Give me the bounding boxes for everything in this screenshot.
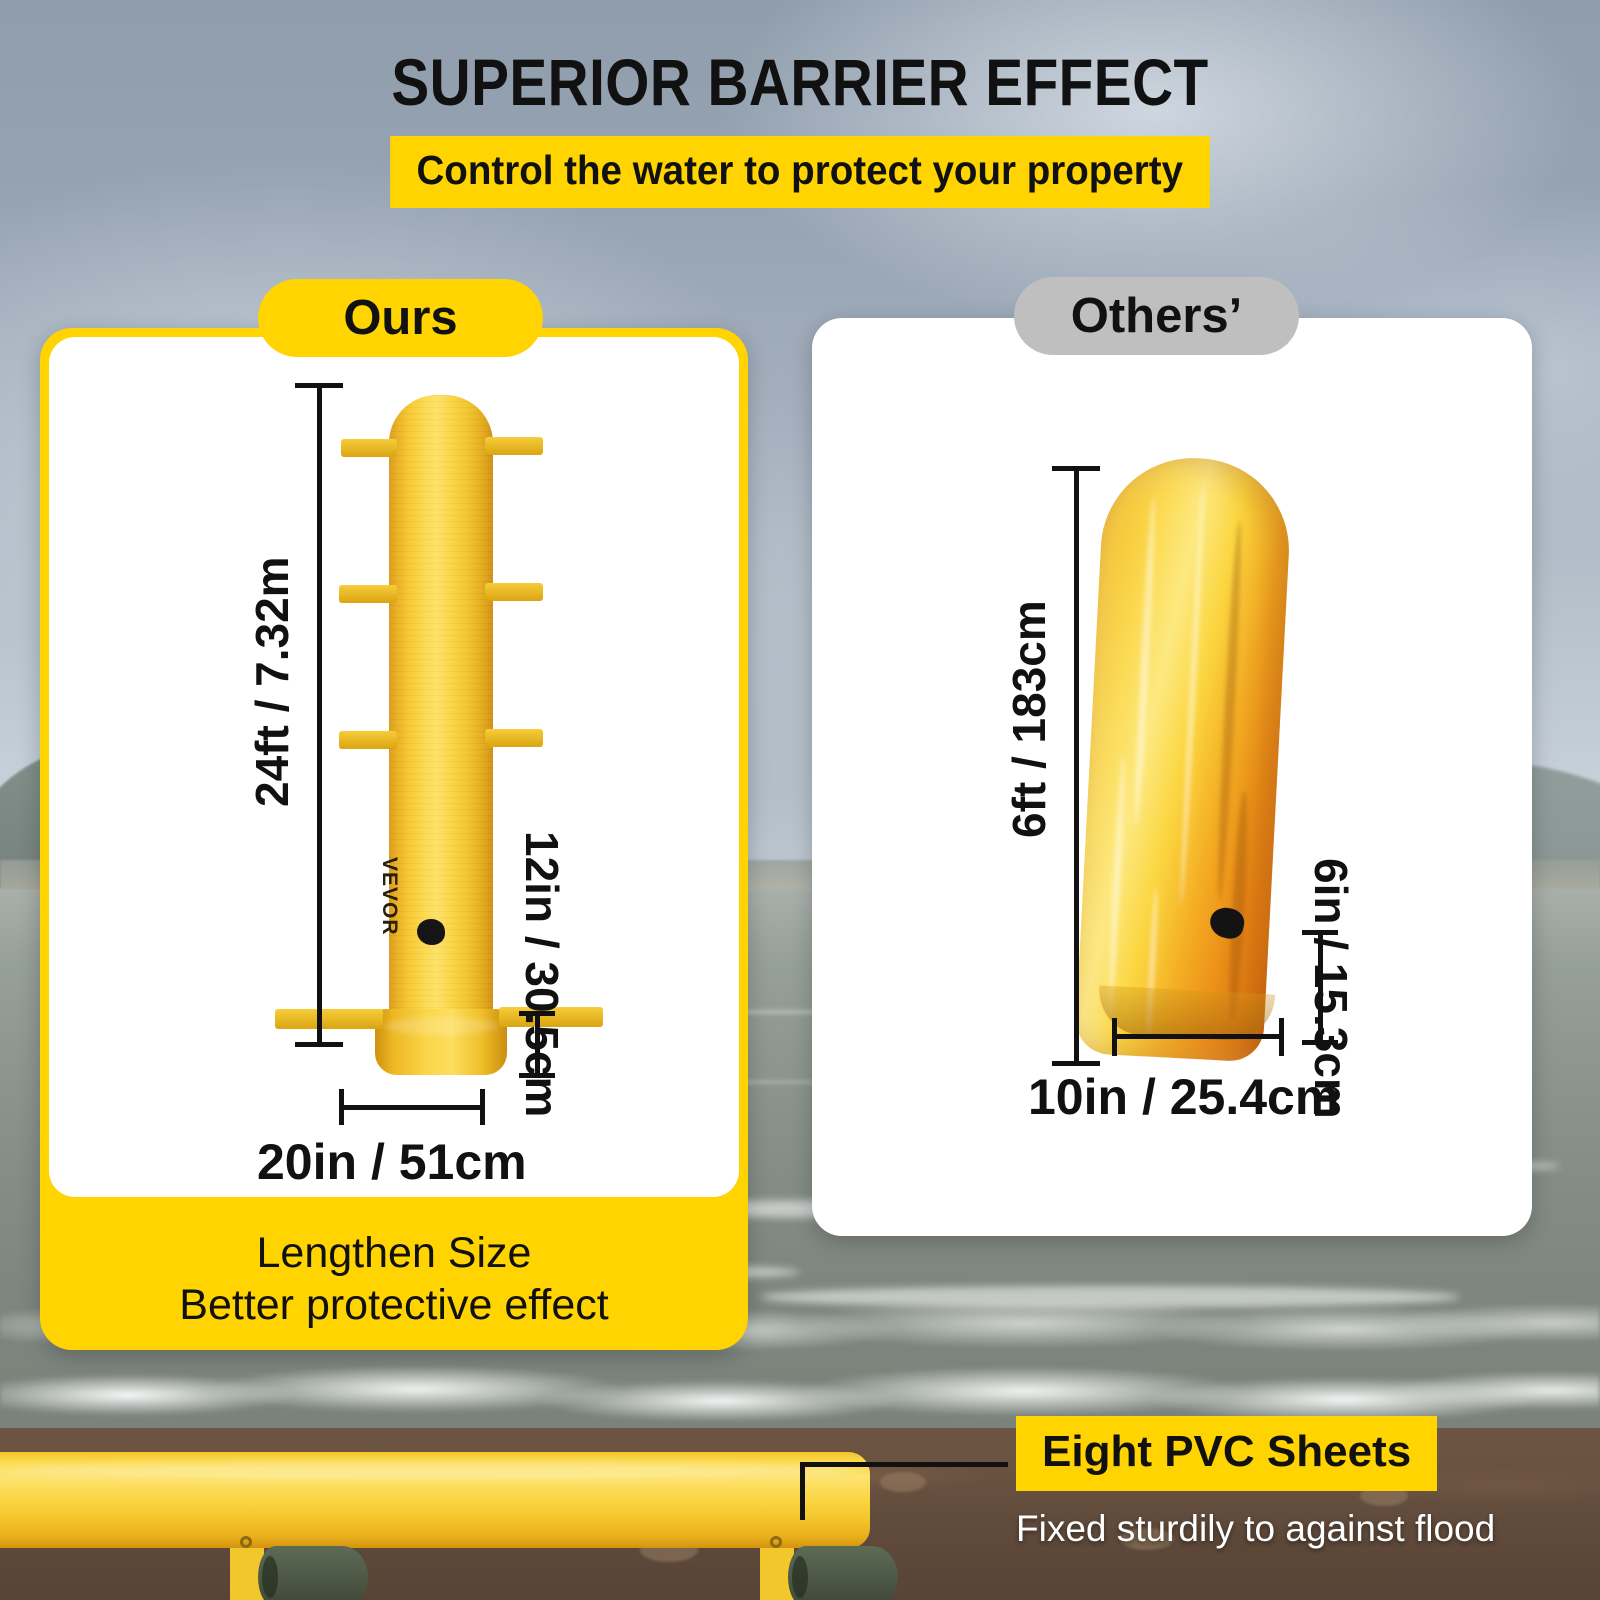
pvc-sheet-tab xyxy=(339,731,397,749)
card-ours-caption: Lengthen Size Better protective effect xyxy=(40,1208,748,1350)
product-base-ours xyxy=(375,1009,507,1075)
pvc-sheet-tab xyxy=(485,729,543,747)
sandbag xyxy=(258,1546,368,1600)
pvc-sheet-tab xyxy=(275,1009,383,1029)
card-ours: VEVOR 24ft / 7.32m 12in / 30.5cm 20in / … xyxy=(40,328,748,1350)
dimension-label-length: 24ft / 7.32m xyxy=(245,556,299,807)
pvc-sheet-tab xyxy=(485,437,543,455)
dimension-label-width: 10in / 25.4cm xyxy=(1028,1068,1339,1126)
dimension-label-height: 12in / 30.5cm xyxy=(515,831,569,1117)
callout-subtext: Fixed sturdily to against flood xyxy=(1016,1508,1495,1550)
dimension-cap-top xyxy=(295,383,343,388)
dimension-label-width: 20in / 51cm xyxy=(257,1133,527,1191)
vevor-brand-logo: VEVOR xyxy=(377,857,401,936)
dimension-cap-width-right xyxy=(480,1089,485,1125)
page-title: SUPERIOR BARRIER EFFECT xyxy=(112,44,1488,120)
header: SUPERIOR BARRIER EFFECT Control the wate… xyxy=(0,0,1600,208)
dimension-cap-bottom xyxy=(295,1042,343,1047)
card-ours-product-area: VEVOR 24ft / 7.32m 12in / 30.5cm 20in / … xyxy=(49,337,739,1197)
dimension-line-width xyxy=(1112,1034,1284,1039)
caption-line-1: Lengthen Size xyxy=(257,1227,532,1279)
dimension-line-length xyxy=(1074,466,1079,1066)
callout-leader-line-vertical xyxy=(800,1462,805,1520)
pvc-sheet-tab xyxy=(341,439,397,457)
dimension-cap-top xyxy=(1052,466,1100,471)
sandbag xyxy=(788,1546,898,1600)
inflation-valve-icon xyxy=(417,919,445,945)
dimension-cap-width-left xyxy=(339,1089,344,1125)
dimension-cap-width-right xyxy=(1279,1018,1284,1056)
dimension-cap-width-left xyxy=(1112,1018,1117,1056)
label-others: Others’ xyxy=(1014,277,1299,355)
grommet-icon xyxy=(770,1536,782,1548)
label-ours: Ours xyxy=(258,279,543,357)
grommet-icon xyxy=(240,1536,252,1548)
dimension-cap-bottom xyxy=(1052,1061,1100,1066)
dimension-line-length xyxy=(317,383,322,1047)
pvc-sheet-tab xyxy=(339,585,397,603)
page-subtitle: Control the water to protect your proper… xyxy=(390,136,1209,208)
caption-line-2: Better protective effect xyxy=(179,1279,608,1331)
dimension-line-width xyxy=(339,1105,485,1110)
card-others: 6ft / 183cm 10in / 25.4cm 6in / 15.3cm xyxy=(812,318,1532,1236)
product-tube-others xyxy=(1074,453,1293,1062)
dimension-label-length: 6ft / 183cm xyxy=(1002,600,1056,838)
callout-leader-line-horizontal xyxy=(800,1462,1008,1467)
pvc-sheet-tab xyxy=(485,583,543,601)
callout-badge: Eight PVC Sheets xyxy=(1016,1416,1437,1491)
flood-barrier-tube xyxy=(0,1452,870,1548)
dimension-label-height: 6in / 15.3cm xyxy=(1304,858,1358,1119)
